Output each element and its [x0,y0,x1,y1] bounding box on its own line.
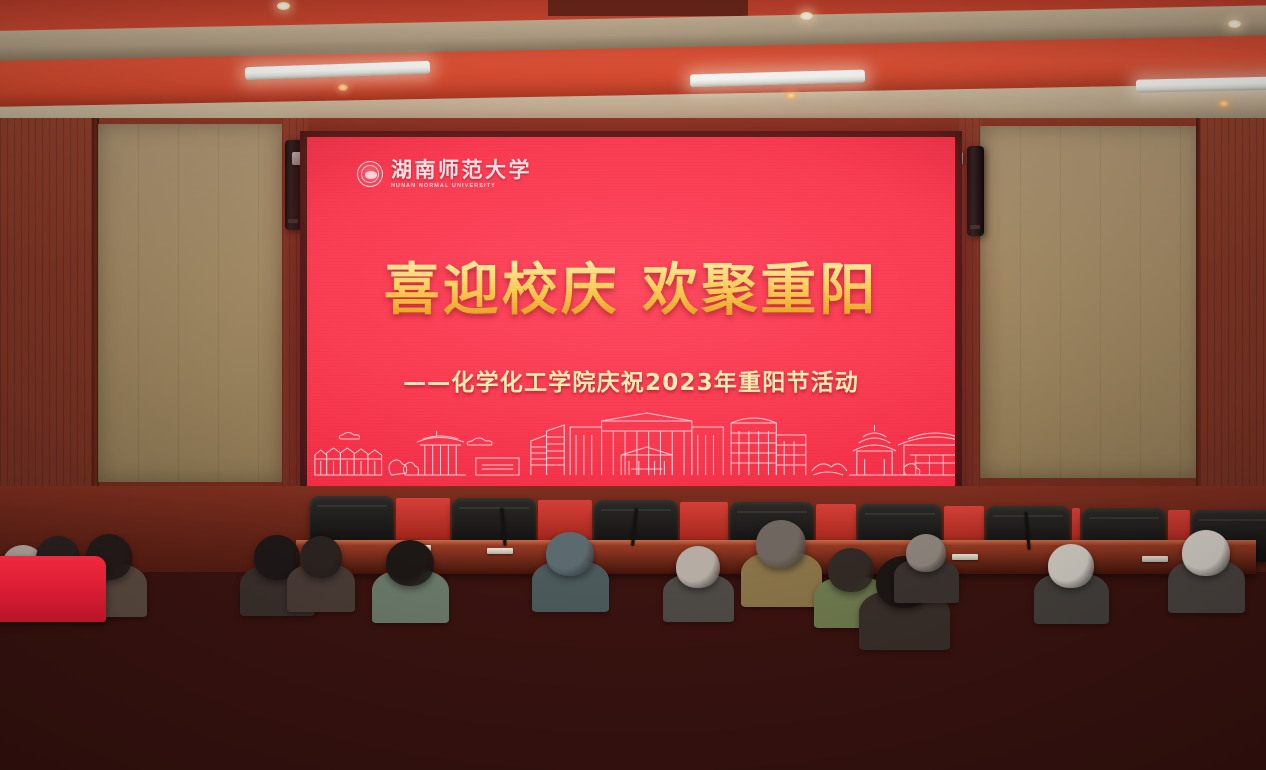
dais-chair-divider-0 [396,498,450,546]
slide-title-main: 喜迎校庆 欢聚重阳 [307,245,955,326]
audience-seating [0,548,1266,770]
ceiling-slot [548,0,748,16]
auditorium-photo: 湖南师范大学 HUNAN NORMAL UNIVERSITY 喜迎校庆 欢聚重阳… [0,0,1266,770]
ceiling-downlight-1 [800,12,813,20]
ceiling-tube-light-0 [245,61,430,80]
led-screen-frame: 湖南师范大学 HUNAN NORMAL UNIVERSITY 喜迎校庆 欢聚重阳… [300,131,962,493]
auditorium-seat [0,556,106,622]
campus-skyline-illustration [307,401,955,479]
ceiling-downlight-3 [338,84,348,91]
wall-panel-left [98,124,284,482]
university-logo: 湖南师范大学 HUNAN NORMAL UNIVERSITY [357,159,532,189]
led-screen: 湖南师范大学 HUNAN NORMAL UNIVERSITY 喜迎校庆 欢聚重阳… [307,137,955,487]
wall-panel-right [980,126,1200,478]
ceiling-downlight-2 [1228,20,1241,28]
wall-wood-right [1200,118,1266,538]
university-name-en: HUNAN NORMAL UNIVERSITY [391,183,532,189]
slide-title-sub: ——化学化工学院庆祝2023年重阳节活动 [307,363,955,397]
ceiling-tube-light-1 [690,70,865,88]
ceiling-downlight-0 [277,2,290,10]
ceiling-downlight-4 [786,92,796,99]
university-seal-emblem [357,161,383,187]
right-column-speaker [967,146,984,236]
wall-wood-left [0,118,96,538]
university-name-cn: 湖南师范大学 [391,159,532,180]
ceiling-downlight-5 [1219,100,1229,107]
